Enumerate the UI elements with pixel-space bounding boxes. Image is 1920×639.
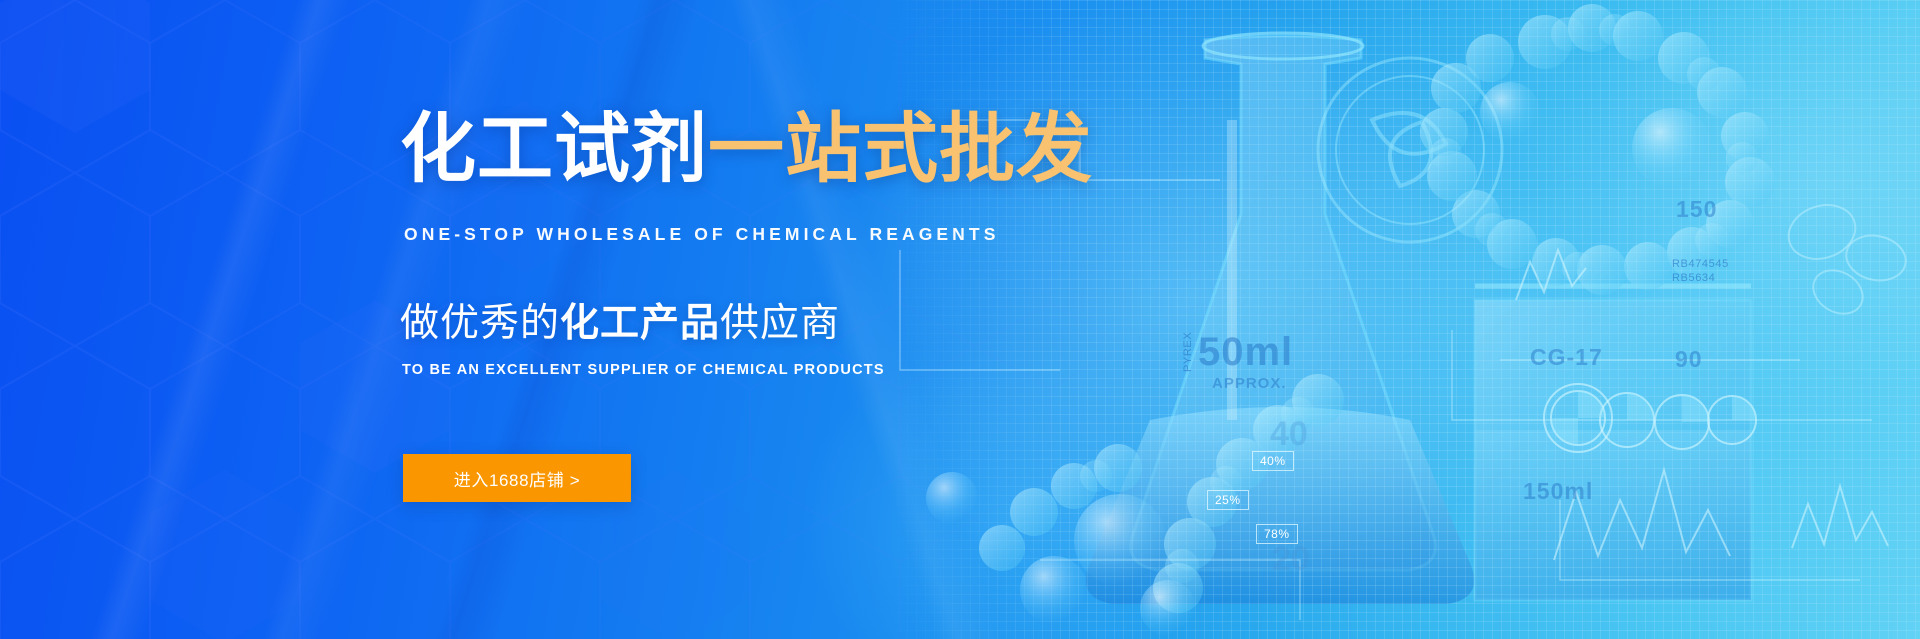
tagline: 做优秀的化工产品供应商	[400, 304, 840, 343]
headline-accent-text: 一站式批发	[708, 107, 1093, 192]
enter-1688-shop-button[interactable]: 进入1688店铺 >	[403, 454, 631, 502]
tagline-english: TO BE AN EXCELLENT SUPPLIER OF CHEMICAL …	[402, 362, 885, 378]
headline-main-text: 化工试剂	[400, 107, 708, 192]
promo-banner: 50ml APPROX. 40 20 40% 25% 78% CG-17 90 …	[0, 0, 1920, 639]
tagline-suffix: 供应商	[720, 302, 840, 345]
subtitle-english: ONE-STOP WHOLESALE OF CHEMICAL REAGENTS	[404, 224, 1000, 245]
banner-content: 化工试剂一站式批发 ONE-STOP WHOLESALE OF CHEMICAL…	[400, 0, 1120, 639]
tagline-strong: 化工产品	[560, 302, 720, 345]
tagline-prefix: 做优秀的	[400, 302, 560, 345]
page-title: 化工试剂一站式批发	[400, 112, 1093, 188]
